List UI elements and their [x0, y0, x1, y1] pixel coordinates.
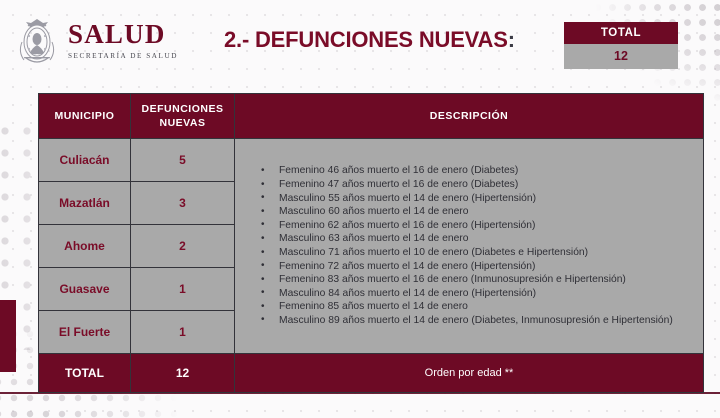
- cell-descripcion: Femenino 46 años muerto el 16 de enero (…: [235, 139, 704, 354]
- list-item: Masculino 55 años muerto el 14 de enero …: [261, 192, 695, 206]
- list-item: Masculino 60 años muerto el 14 de enero: [261, 205, 695, 219]
- table-row: Culiacán 5 Femenino 46 años muerto el 16…: [39, 139, 704, 182]
- salud-logo: SALUD SECRETARÍA DE SALUD: [14, 12, 178, 68]
- list-item: Femenino 46 años muerto el 16 de enero (…: [261, 164, 695, 178]
- list-item: Femenino 47 años muerto el 16 de enero (…: [261, 178, 695, 192]
- cell-defunciones: 1: [131, 311, 235, 354]
- slide-header: SALUD SECRETARÍA DE SALUD 2.- DEFUNCIONE…: [0, 0, 720, 86]
- total-row-label: TOTAL: [39, 354, 131, 393]
- total-badge: TOTAL 12: [564, 22, 678, 69]
- cell-defunciones: 5: [131, 139, 235, 182]
- table-total-row: TOTAL 12 Orden por edad **: [39, 354, 704, 393]
- defunciones-table: MUNICIPIO DEFUNCIONES NUEVAS DESCRIPCIÓN…: [38, 93, 704, 393]
- decorative-left-maroon-bar: [0, 300, 16, 372]
- salud-wordmark: SALUD SECRETARÍA DE SALUD: [68, 21, 178, 60]
- descripcion-list: Femenino 46 años muerto el 16 de enero (…: [235, 154, 703, 337]
- page-title-colon: :: [508, 27, 515, 52]
- cell-municipio: Culiacán: [39, 139, 131, 182]
- column-header-municipio: MUNICIPIO: [39, 94, 131, 139]
- descripcion-footer-note: Orden por edad **: [235, 354, 704, 393]
- page-title: 2.- DEFUNCIONES NUEVAS:: [224, 27, 515, 53]
- cell-defunciones: 2: [131, 225, 235, 268]
- cell-municipio: Guasave: [39, 268, 131, 311]
- cell-municipio: Ahome: [39, 225, 131, 268]
- salud-wordmark-subtitle: SECRETARÍA DE SALUD: [68, 52, 178, 60]
- list-item: Femenino 72 años muerto el 14 de enero (…: [261, 260, 695, 274]
- list-item: Masculino 71 años muerto el 10 de enero …: [261, 246, 695, 260]
- total-badge-label: TOTAL: [564, 22, 678, 44]
- total-row-value: 12: [131, 354, 235, 393]
- mexico-coat-of-arms-icon: [14, 12, 60, 68]
- table-header-row: MUNICIPIO DEFUNCIONES NUEVAS DESCRIPCIÓN: [39, 94, 704, 139]
- list-item: Femenino 62 años muerto el 16 de enero (…: [261, 219, 695, 233]
- list-item: Femenino 83 años muerto el 16 de enero (…: [261, 273, 695, 287]
- list-item: Masculino 63 años muerto el 14 de enero: [261, 232, 695, 246]
- list-item: Femenino 85 años muerto el 14 de enero: [261, 300, 695, 314]
- cell-defunciones: 1: [131, 268, 235, 311]
- cell-municipio: Mazatlán: [39, 182, 131, 225]
- list-item: Masculino 89 años muerto el 14 de enero …: [261, 314, 695, 328]
- column-header-descripcion: DESCRIPCIÓN: [235, 94, 704, 139]
- page-title-text: 2.- DEFUNCIONES NUEVAS: [224, 27, 508, 52]
- cell-municipio: El Fuerte: [39, 311, 131, 354]
- salud-wordmark-title: SALUD: [68, 21, 178, 48]
- list-item: Masculino 84 años muerto el 14 de enero …: [261, 287, 695, 301]
- total-badge-value: 12: [564, 44, 678, 69]
- column-header-defunciones-nuevas: DEFUNCIONES NUEVAS: [131, 94, 235, 139]
- slide-canvas: SALUD SECRETARÍA DE SALUD 2.- DEFUNCIONE…: [0, 0, 720, 418]
- cell-defunciones: 3: [131, 182, 235, 225]
